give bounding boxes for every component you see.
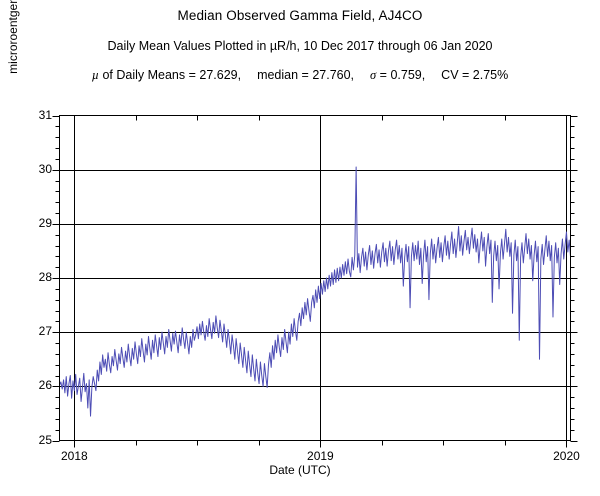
x-tick-label: 2019 [290, 449, 350, 463]
gamma-field-chart-figure: Median Observed Gamma Field, AJ4CO Daily… [0, 0, 600, 496]
gridlines [60, 116, 571, 441]
y-tick-label: 26 [12, 378, 52, 392]
x-tick-label: 2018 [44, 449, 104, 463]
y-tick-label: 28 [12, 270, 52, 284]
y-tick-label: 29 [12, 216, 52, 230]
y-tick-label: 25 [12, 433, 52, 447]
y-tick-label: 31 [12, 108, 52, 122]
y-tick-label: 27 [12, 324, 52, 338]
plot-area [0, 0, 600, 496]
y-tick-label: 30 [12, 162, 52, 176]
y-axis-label: microroentgens per hour (µR/h) [6, 0, 24, 152]
data-series [60, 167, 571, 416]
x-tick-label: 2020 [536, 449, 596, 463]
data-line [60, 167, 571, 416]
x-axis-label: Date (UTC) [0, 463, 600, 477]
